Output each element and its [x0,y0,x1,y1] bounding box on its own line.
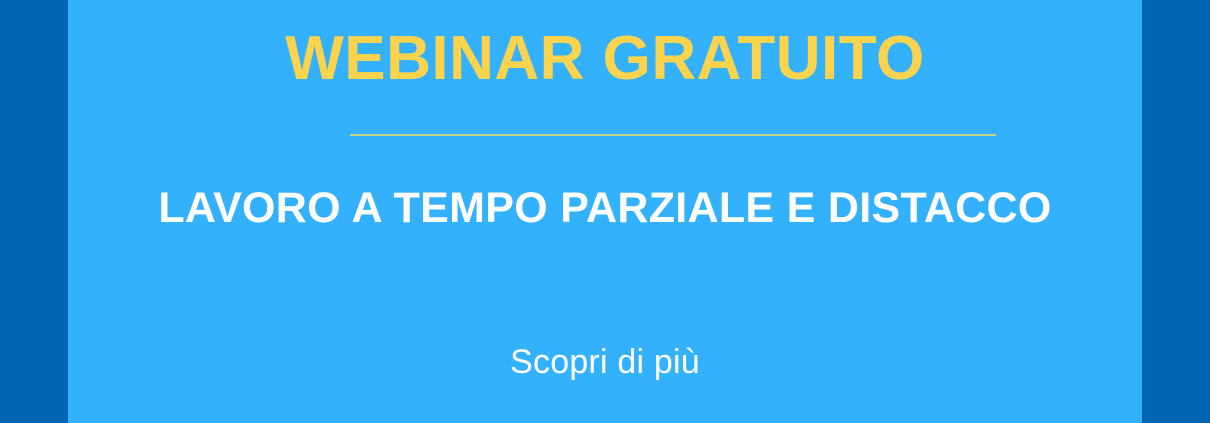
left-accent-band [0,0,68,423]
banner-subtitle: LAVORO A TEMPO PARZIALE E DISTACCO [68,182,1142,234]
headline-divider [350,134,996,136]
banner-content: WEBINAR GRATUITO LAVORO A TEMPO PARZIALE… [68,0,1142,423]
learn-more-link[interactable]: Scopri di più [68,340,1142,384]
banner-panel: WEBINAR GRATUITO LAVORO A TEMPO PARZIALE… [68,0,1142,423]
banner-headline: WEBINAR GRATUITO [68,23,1142,95]
right-accent-band [1142,0,1210,423]
webinar-promo-banner: WEBINAR GRATUITO LAVORO A TEMPO PARZIALE… [0,0,1210,423]
